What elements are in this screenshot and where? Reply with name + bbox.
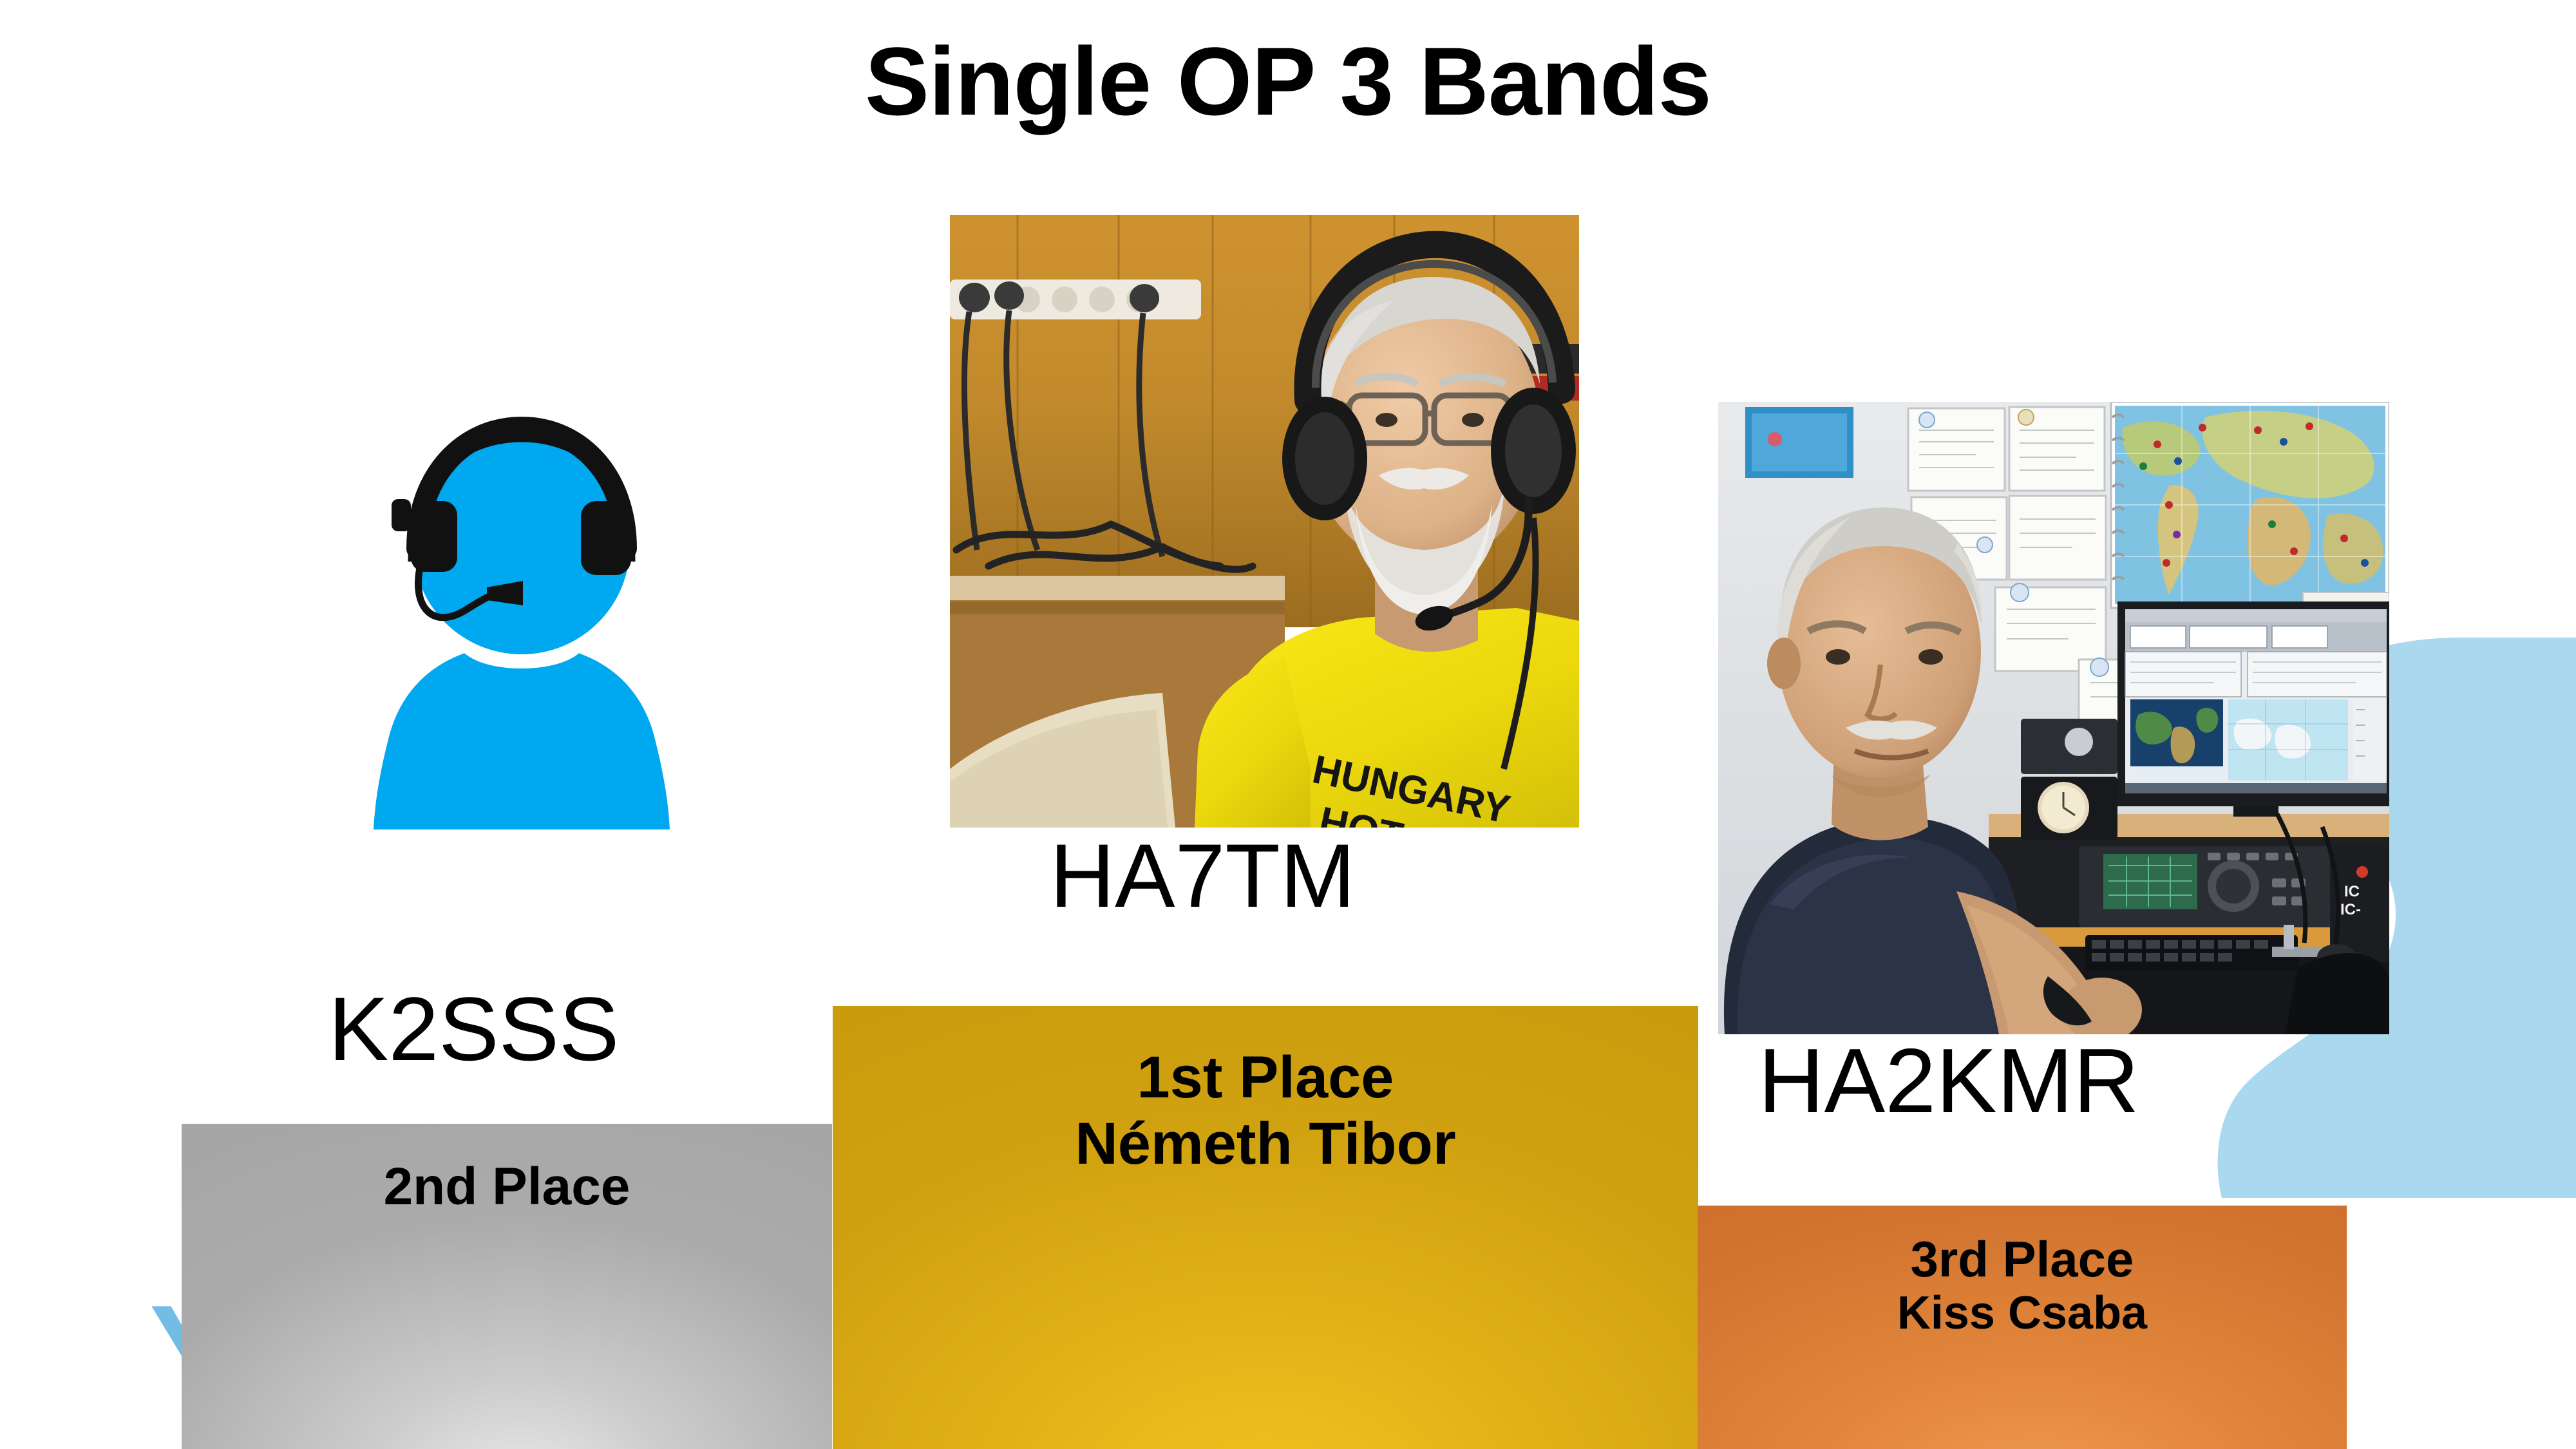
third-place-callsign: HA2KMR bbox=[1758, 1036, 2139, 1127]
second-place-label: 2nd Place bbox=[182, 1157, 832, 1217]
svg-text:IC: IC bbox=[2344, 883, 2360, 900]
first-place-name: Németh Tibor bbox=[833, 1111, 1698, 1177]
podium-first-place: 1st Place Németh Tibor bbox=[833, 1006, 1698, 1449]
first-place-label: 1st Place bbox=[833, 1045, 1698, 1111]
second-place-callsign: K2SSS bbox=[328, 984, 619, 1074]
page-title: Single OP 3 Bands bbox=[0, 31, 2576, 133]
third-place-photo: IC IC- bbox=[1718, 402, 2389, 1034]
podium-second-place: 2nd Place bbox=[182, 1124, 832, 1449]
headset-operator-avatar-icon bbox=[335, 399, 708, 837]
podium-third-place: 3rd Place Kiss Csaba bbox=[1698, 1206, 2347, 1449]
first-place-callsign: HA7TM bbox=[1050, 831, 1355, 921]
third-place-name: Kiss Csaba bbox=[1698, 1287, 2347, 1340]
third-place-label: 3rd Place bbox=[1698, 1231, 2347, 1287]
first-place-photo: HUNGARY HOT bbox=[950, 215, 1579, 828]
svg-text:IC-: IC- bbox=[2340, 901, 2361, 918]
